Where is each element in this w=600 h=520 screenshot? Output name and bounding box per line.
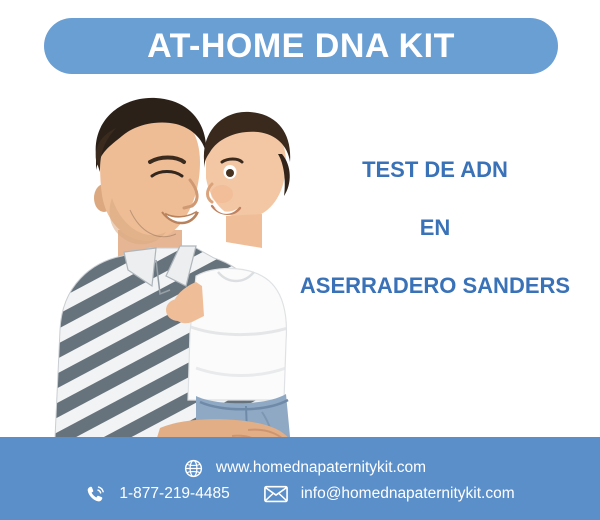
phone-text: 1-877-219-4485	[119, 486, 229, 502]
website-text: www.homednapaternitykit.com	[216, 460, 426, 476]
email-text: info@homednapaternitykit.com	[301, 486, 515, 502]
footer-bar: www.homednapaternitykit.com 1-877-219-44…	[0, 437, 600, 520]
phone-icon	[85, 484, 106, 505]
headline-line-1: TEST DE ADN	[285, 158, 585, 182]
email-item[interactable]: info@homednapaternitykit.com	[264, 485, 515, 503]
footer-row-contact: 1-877-219-4485 info@homednapaternitykit.…	[85, 484, 514, 505]
poster-canvas: AT-HOME DNA KIT	[0, 0, 600, 520]
family-photo	[0, 80, 330, 460]
footer-content: www.homednapaternitykit.com 1-877-219-44…	[0, 437, 600, 520]
globe-icon	[184, 459, 203, 478]
phone-item[interactable]: 1-877-219-4485	[85, 484, 229, 505]
headline-line-2: EN	[285, 216, 585, 240]
headline-block: TEST DE ADN EN ASERRADERO SANDERS	[285, 158, 585, 299]
header-banner: AT-HOME DNA KIT	[44, 18, 558, 74]
envelope-icon	[264, 485, 288, 503]
website-item[interactable]: www.homednapaternitykit.com	[184, 459, 426, 478]
headline-line-3: ASERRADERO SANDERS	[285, 274, 585, 298]
page-title: AT-HOME DNA KIT	[147, 29, 455, 63]
footer-row-website: www.homednapaternitykit.com	[174, 459, 426, 478]
